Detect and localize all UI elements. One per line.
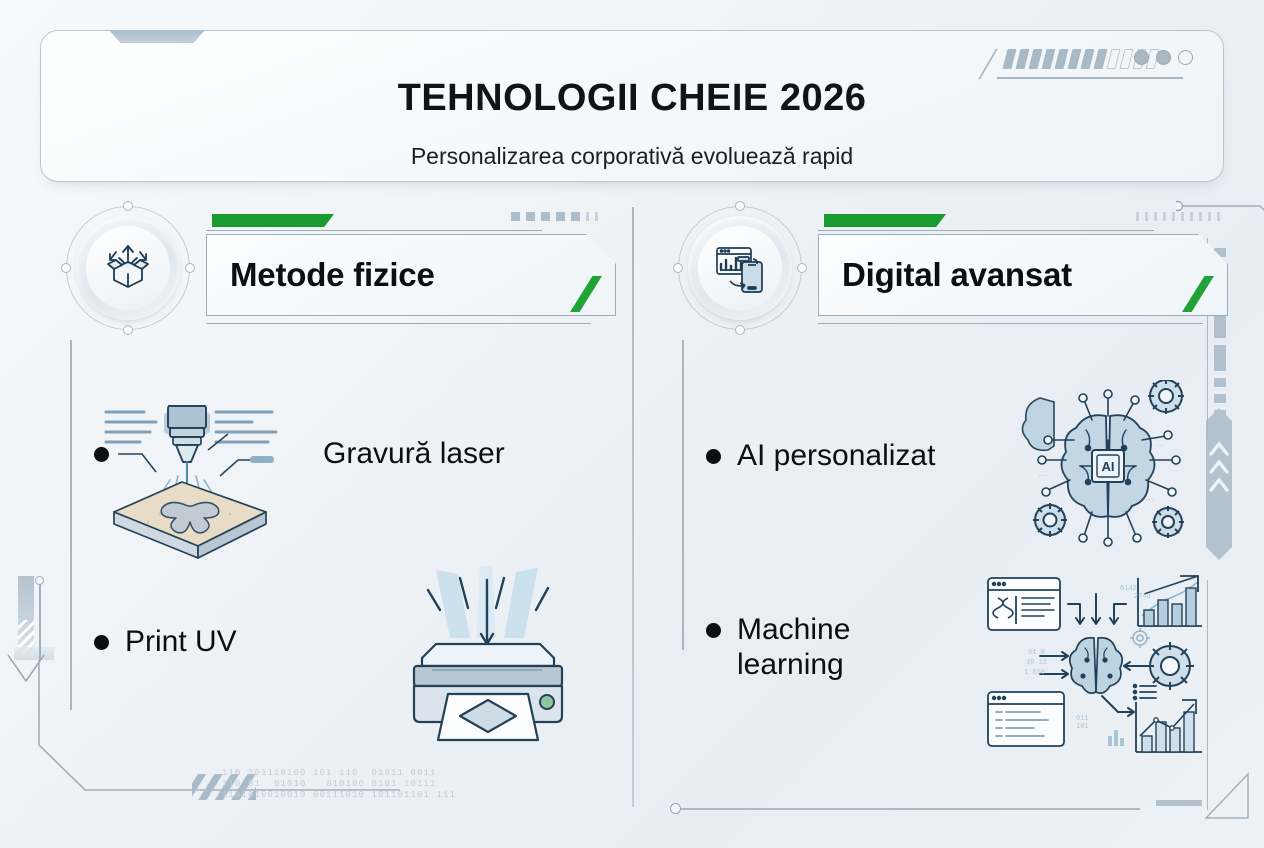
left-arrow-bar-decoration [18, 576, 34, 654]
list-bullet-icon [706, 449, 721, 464]
open-box-arrows-icon [100, 240, 156, 296]
down-arrow-icon [6, 653, 46, 683]
column-digital-avansat: Digital avansat AI personalizat AI [656, 198, 1248, 818]
list-item[interactable]: AI personalizat [706, 438, 935, 473]
left-node-dot-icon [35, 576, 44, 585]
svg-text:AI: AI [1102, 459, 1115, 474]
svg-text:6142: 6142 [1120, 585, 1137, 593]
list-bullet-icon [94, 635, 109, 650]
uv-printer-icon [392, 562, 582, 742]
badge-node-top-icon [735, 201, 745, 211]
section-accent-bar [212, 214, 334, 227]
section-header-digital-avansat: Digital avansat [818, 212, 1228, 320]
section-accent-bar [824, 214, 946, 227]
ml-pipeline-icon: 01 010 111 010 011101 61422749 [984, 570, 1206, 760]
svg-text:101: 101 [1076, 723, 1089, 731]
left-column-rule [70, 340, 72, 710]
section-title-digital-avansat: Digital avansat [842, 256, 1072, 294]
responsive-analytics-icon [712, 240, 768, 296]
list-item-label: Gravură laser [323, 436, 505, 471]
page-title: TEHNOLOGII CHEIE 2026 [41, 77, 1223, 120]
ai-brain-chip-icon: AI ........ [1014, 380, 1204, 560]
badge-node-top-icon [123, 201, 133, 211]
list-item-label: Machine learning [737, 612, 927, 683]
badge-node-left-icon [61, 263, 71, 273]
badge-inner-disc [698, 226, 782, 310]
svg-text:01 0: 01 0 [1028, 649, 1045, 657]
section-dash-decoration [511, 212, 598, 221]
svg-text:...: ... [1038, 471, 1049, 478]
header-panel: TEHNOLOGII CHEIE 2026 Personalizarea cor… [40, 30, 1224, 182]
badge-node-left-icon [673, 263, 683, 273]
badge-metode-fizice [66, 206, 190, 330]
right-column-rule [682, 340, 684, 650]
badge-node-bottom-icon [123, 325, 133, 335]
section-plate-topline [206, 230, 542, 231]
list-item-label: Print UV [125, 624, 237, 659]
svg-text:2749: 2749 [1134, 593, 1151, 601]
svg-text:011: 011 [1076, 715, 1089, 723]
section-plate-botline [818, 323, 1203, 324]
badge-node-right-icon [185, 263, 195, 273]
list-item[interactable]: Machine learning [706, 612, 927, 683]
badge-inner-disc [86, 226, 170, 310]
badge-digital-avansat [678, 206, 802, 330]
left-arrow-stem-decoration [39, 582, 41, 660]
column-metode-fizice: Metode fizice Gravură laser [44, 198, 636, 818]
section-plate-botline [206, 323, 591, 324]
list-item-label: AI personalizat [737, 438, 935, 473]
section-plate-topline [818, 230, 1154, 231]
list-item[interactable]: Print UV [94, 624, 237, 659]
header-notch-decoration [109, 30, 205, 43]
section-header-metode-fizice: Metode fizice [206, 212, 616, 320]
header-status-dots [1134, 50, 1193, 65]
list-bullet-icon [706, 623, 721, 638]
badge-node-bottom-icon [735, 325, 745, 335]
badge-node-right-icon [797, 263, 807, 273]
svg-text:..: .. [1156, 441, 1163, 448]
laser-engraving-icon [100, 394, 300, 562]
svg-text:...: ... [1144, 495, 1155, 502]
section-circuit-decoration [1176, 200, 1264, 320]
svg-text:1 010: 1 010 [1024, 669, 1045, 677]
page-subtitle: Personalizarea corporativă evoluează rap… [41, 143, 1223, 170]
section-title-metode-fizice: Metode fizice [230, 256, 435, 294]
svg-text:10 11: 10 11 [1026, 659, 1047, 667]
